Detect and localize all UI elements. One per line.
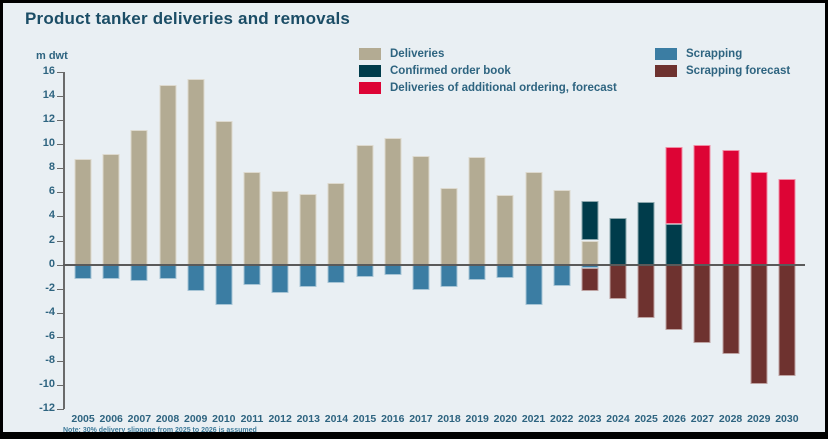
bar-segment xyxy=(666,265,683,330)
bar-segment xyxy=(441,265,458,288)
y-tick-label: 16 xyxy=(11,65,55,77)
bar-segment xyxy=(525,172,542,265)
bar-group: 2007 xyxy=(125,72,153,409)
bar-group: 2025 xyxy=(632,72,660,409)
bar-segment xyxy=(384,138,401,264)
y-tick-label: -8 xyxy=(11,354,55,366)
bar-segment xyxy=(272,191,289,264)
bar-segment xyxy=(412,265,429,290)
bar-group: 2027 xyxy=(688,72,716,409)
y-tick xyxy=(57,409,64,410)
bar-segment xyxy=(581,268,598,291)
chart-figure: Product tanker deliveries and removals m… xyxy=(0,0,828,439)
bar-segment xyxy=(722,265,739,354)
bar-segment xyxy=(159,85,176,264)
plot-area: 1614121086420-2-4-6-8-10-12 200520062007… xyxy=(63,72,805,409)
y-tick-label: -6 xyxy=(11,330,55,342)
bar-group: 2011 xyxy=(238,72,266,409)
bar-segment xyxy=(300,194,317,265)
bar-segment xyxy=(581,241,598,265)
bar-segment xyxy=(187,265,204,291)
y-tick-label: -4 xyxy=(11,306,55,318)
bar-group: 2010 xyxy=(210,72,238,409)
bar-segment xyxy=(131,130,148,265)
bar-segment xyxy=(131,265,148,282)
bar-segment xyxy=(215,121,232,264)
y-tick-label: 4 xyxy=(11,209,55,221)
y-tick-label: 10 xyxy=(11,137,55,149)
legend-swatch xyxy=(655,48,677,60)
bar-segment xyxy=(666,224,683,265)
bar-segment xyxy=(497,265,514,278)
bottom-border xyxy=(3,432,828,436)
y-tick-label: 12 xyxy=(11,113,55,125)
bar-group: 2024 xyxy=(604,72,632,409)
bar-series-container: 2005200620072008200920102011201220132014… xyxy=(63,72,805,409)
bar-group: 2019 xyxy=(463,72,491,409)
bar-segment xyxy=(553,190,570,265)
bar-segment xyxy=(356,145,373,264)
bar-group: 2008 xyxy=(153,72,181,409)
bar-group: 2006 xyxy=(97,72,125,409)
bar-segment xyxy=(581,201,598,241)
legend-label: Scrapping xyxy=(686,48,742,60)
bar-segment xyxy=(75,265,92,279)
zero-baseline xyxy=(63,264,805,266)
bar-segment xyxy=(638,202,655,265)
bar-group: 2022 xyxy=(548,72,576,409)
bar-segment xyxy=(497,195,514,265)
y-tick-label: 6 xyxy=(11,185,55,197)
bar-group: 2017 xyxy=(407,72,435,409)
bar-group: 2029 xyxy=(745,72,773,409)
bar-segment xyxy=(243,265,260,285)
bar-segment xyxy=(778,265,795,377)
y-axis-unit-label: m dwt xyxy=(36,50,68,62)
bar-segment xyxy=(215,265,232,306)
x-tick-label: 2030 xyxy=(767,413,807,425)
bar-segment xyxy=(384,265,401,276)
bar-segment xyxy=(159,265,176,279)
y-tick-label: 0 xyxy=(11,258,55,270)
bar-segment xyxy=(243,172,260,265)
bar-segment xyxy=(694,265,711,343)
bar-group: 2012 xyxy=(266,72,294,409)
y-tick-label: -2 xyxy=(11,282,55,294)
bar-segment xyxy=(469,157,486,264)
bar-segment xyxy=(300,265,317,288)
bar-segment xyxy=(412,156,429,264)
bar-group: 2016 xyxy=(379,72,407,409)
legend-swatch xyxy=(359,48,381,60)
bar-group: 2023 xyxy=(576,72,604,409)
bar-segment xyxy=(328,183,345,265)
bar-segment xyxy=(750,172,767,265)
bar-segment xyxy=(441,188,458,265)
y-tick-label: 8 xyxy=(11,161,55,173)
bar-segment xyxy=(553,265,570,287)
bar-group: 2013 xyxy=(294,72,322,409)
y-tick-label: -12 xyxy=(11,402,55,414)
bar-segment xyxy=(609,265,626,300)
bar-segment xyxy=(75,159,92,265)
bar-group: 2018 xyxy=(435,72,463,409)
bar-segment xyxy=(356,265,373,277)
bar-segment xyxy=(694,145,711,264)
bar-group: 2020 xyxy=(491,72,519,409)
bar-group: 2028 xyxy=(717,72,745,409)
y-tick-label: 14 xyxy=(11,89,55,101)
bar-segment xyxy=(609,218,626,265)
bar-group: 2014 xyxy=(322,72,350,409)
bar-group: 2030 xyxy=(773,72,801,409)
bar-group: 2015 xyxy=(351,72,379,409)
legend-label: Deliveries xyxy=(390,48,444,60)
bar-segment xyxy=(272,265,289,294)
y-tick-label: -10 xyxy=(11,378,55,390)
legend-item: Scrapping xyxy=(655,48,790,60)
legend-item: Deliveries xyxy=(359,48,617,60)
bar-segment xyxy=(666,147,683,224)
bar-group: 2009 xyxy=(182,72,210,409)
y-tick-label: 2 xyxy=(11,234,55,246)
bar-segment xyxy=(103,265,120,279)
bar-segment xyxy=(722,150,739,264)
bar-segment xyxy=(187,79,204,264)
bar-segment xyxy=(469,265,486,281)
bar-group: 2026 xyxy=(660,72,688,409)
bar-segment xyxy=(328,265,345,283)
bar-segment xyxy=(103,154,120,265)
page-title: Product tanker deliveries and removals xyxy=(25,9,350,29)
bar-segment xyxy=(750,265,767,384)
bar-group: 2005 xyxy=(69,72,97,409)
bar-group: 2021 xyxy=(519,72,547,409)
bar-segment xyxy=(778,179,795,264)
bar-segment xyxy=(525,265,542,306)
bar-segment xyxy=(638,265,655,318)
